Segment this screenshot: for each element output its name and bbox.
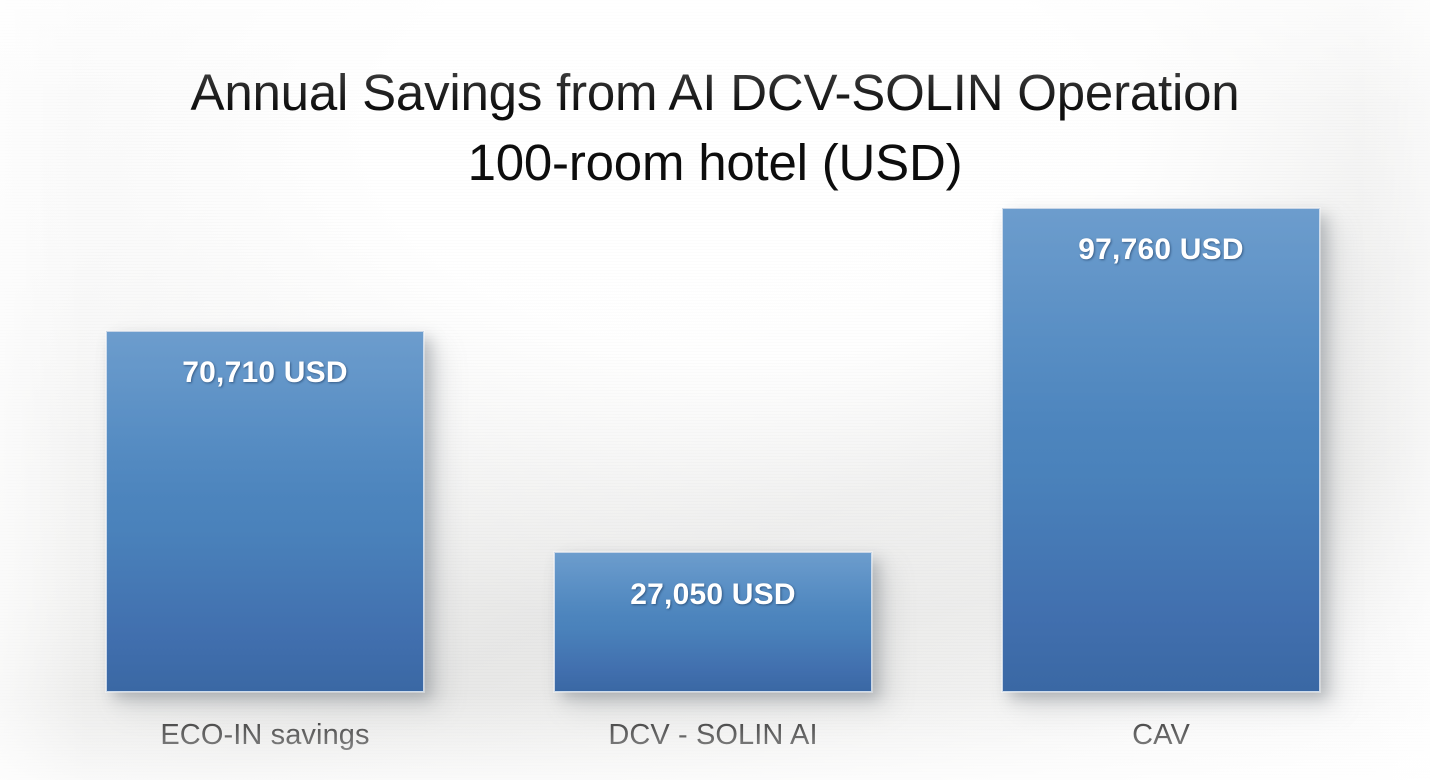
bar-value-label-dcv-solin-ai: 27,050 USD bbox=[555, 578, 871, 612]
bar-value-label-eco-in-savings: 70,710 USD bbox=[107, 356, 423, 390]
bar-eco-in-savings[interactable]: 70,710 USD bbox=[106, 331, 424, 692]
bar-value-label-cav: 97,760 USD bbox=[1003, 233, 1319, 267]
category-label-dcv-solin-ai: DCV - SOLIN AI bbox=[554, 719, 872, 752]
slide-canvas: Annual Savings from AI DCV-SOLIN Operati… bbox=[0, 0, 1430, 780]
bar-dcv-solin-ai[interactable]: 27,050 USD bbox=[554, 552, 872, 692]
category-label-eco-in-savings: ECO-IN savings bbox=[106, 719, 424, 752]
bar-chart-plot-area: 70,710 USD ECO-IN savings 27,050 USD DCV… bbox=[0, 0, 1430, 780]
category-label-cav: CAV bbox=[1002, 719, 1320, 752]
bar-cav[interactable]: 97,760 USD bbox=[1002, 208, 1320, 692]
